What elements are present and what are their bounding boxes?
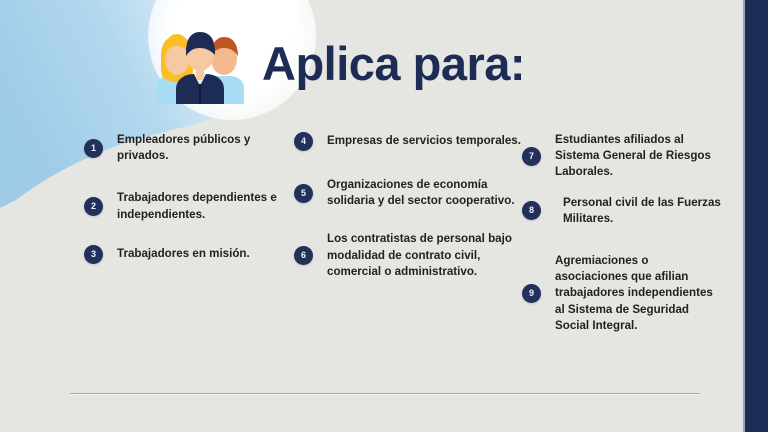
item-number-badge: 2 <box>84 197 103 216</box>
items-columns: 1 Empleadores públicos y privados. 2 Tra… <box>84 132 724 360</box>
list-item[interactable]: 2 Trabajadores dependientes e independie… <box>84 190 294 222</box>
three-people-icon <box>148 26 252 104</box>
column-1: 1 Empleadores públicos y privados. 2 Tra… <box>84 132 294 290</box>
column-2: 4 Empresas de servicios temporales. 5 Or… <box>294 132 522 306</box>
right-navy-bar <box>745 0 768 432</box>
item-number-badge: 9 <box>522 284 541 303</box>
list-item[interactable]: 5 Organizaciones de economía solidaria y… <box>294 177 522 209</box>
list-item[interactable]: 8 Personal civil de las Fuerzas Militare… <box>522 195 722 227</box>
list-item[interactable]: 4 Empresas de servicios temporales. <box>294 132 522 151</box>
item-text: Estudiantes afiliados al Sistema General… <box>555 132 722 181</box>
item-number-badge: 6 <box>294 246 313 265</box>
item-text: Empleadores públicos y privados. <box>117 132 294 164</box>
item-number-badge: 7 <box>522 147 541 166</box>
item-number-badge: 4 <box>294 132 313 151</box>
slide-canvas: Aplica para: 1 Empleadores públicos y pr… <box>0 0 768 432</box>
item-text: Empresas de servicios temporales. <box>327 133 521 149</box>
item-text: Organizaciones de economía solidaria y d… <box>327 177 522 209</box>
column-3: 7 Estudiantes afiliados al Sistema Gener… <box>522 132 722 360</box>
item-text: Agremiaciones o asociaciones que afilian… <box>555 253 722 334</box>
list-item[interactable]: 1 Empleadores públicos y privados. <box>84 132 294 164</box>
item-number-badge: 3 <box>84 245 103 264</box>
list-item[interactable]: 9 Agremiaciones o asociaciones que afili… <box>522 253 722 334</box>
item-text: Trabajadores en misión. <box>117 246 250 262</box>
footer-divider <box>70 393 700 395</box>
list-item[interactable]: 6 Los contratistas de personal bajo moda… <box>294 231 522 280</box>
item-text: Trabajadores dependientes e independient… <box>117 190 294 222</box>
list-item[interactable]: 7 Estudiantes afiliados al Sistema Gener… <box>522 132 722 181</box>
slide-header: Aplica para: <box>148 26 525 104</box>
item-number-badge: 5 <box>294 184 313 203</box>
item-text: Los contratistas de personal bajo modali… <box>327 231 522 280</box>
item-number-badge: 8 <box>522 201 541 220</box>
page-title: Aplica para: <box>262 40 525 91</box>
list-item[interactable]: 3 Trabajadores en misión. <box>84 245 294 264</box>
item-number-badge: 1 <box>84 139 103 158</box>
item-text: Personal civil de las Fuerzas Militares. <box>563 195 722 227</box>
